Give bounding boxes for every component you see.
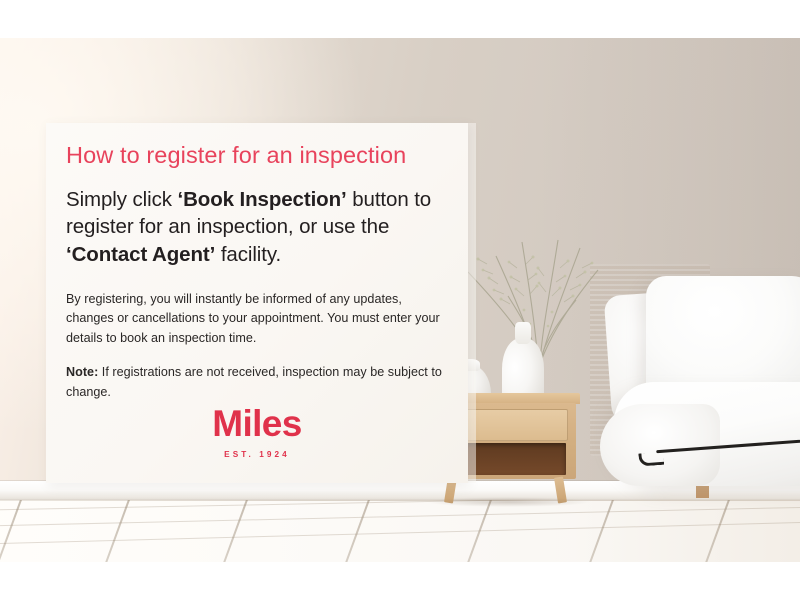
duvet-fold: [600, 404, 720, 486]
top-white-band: [0, 0, 800, 38]
note-text: If registrations are not received, inspe…: [66, 365, 442, 399]
room-photograph: How to register for an inspection Simply…: [0, 38, 800, 562]
card-title: How to register for an inspection: [66, 141, 446, 169]
card-body-paragraph: By registering, you will instantly be in…: [66, 290, 446, 349]
info-card: How to register for an inspection Simply…: [46, 123, 468, 483]
card-note-paragraph: Note: If registrations are not received,…: [66, 363, 446, 402]
logo-established-text: EST. 1924: [46, 451, 468, 459]
book-inspection-emphasis: ‘Book Inspection’: [177, 188, 346, 211]
dried-branches: [438, 234, 638, 364]
lead-text-part-1: Simply click: [66, 188, 177, 211]
card-lead-paragraph: Simply click ‘Book Inspection’ button to…: [66, 186, 446, 268]
lead-text-part-3: facility.: [215, 243, 281, 266]
note-label: Note:: [66, 365, 98, 379]
brand-logo: Miles EST. 1924: [46, 405, 468, 459]
poster-canvas: How to register for an inspection Simply…: [0, 0, 800, 600]
nightstand-shadow: [426, 497, 590, 507]
logo-wordmark: Miles: [46, 405, 468, 442]
contact-agent-emphasis: ‘Contact Agent’: [66, 243, 215, 266]
bottom-white-band: [0, 562, 800, 600]
